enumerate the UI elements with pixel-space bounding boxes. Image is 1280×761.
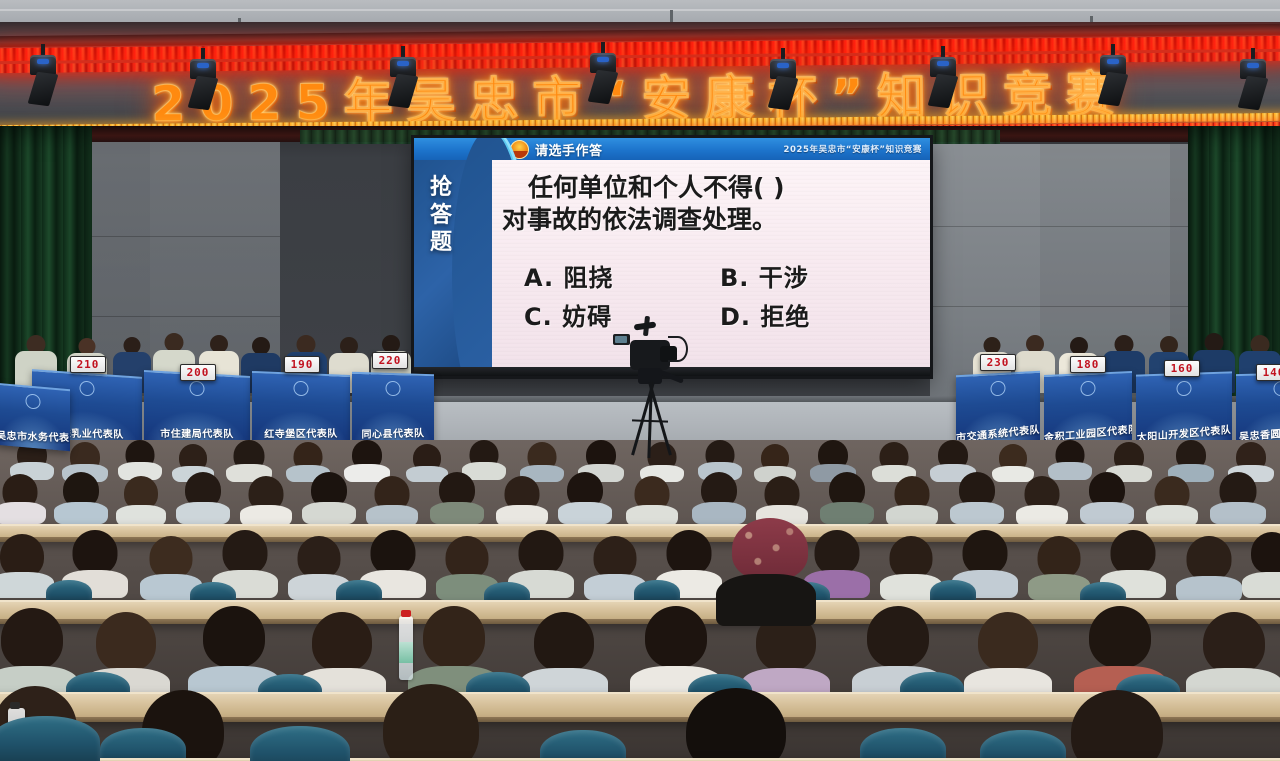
score-display: 230: [980, 354, 1016, 371]
led-banner: 2025年吴忠市“安康杯”知识竞赛: [0, 22, 1280, 130]
audience-member: [54, 472, 108, 524]
audience-member: [886, 476, 938, 526]
team-desk: 市交通系统代表队: [956, 371, 1040, 447]
audience-member: [558, 472, 612, 524]
auditorium-seat[interactable]: [0, 716, 100, 761]
bottle-label: [399, 642, 413, 664]
audience-member: [336, 684, 526, 761]
question-type-label: 抢答题: [428, 174, 454, 257]
audience-member: [366, 476, 418, 526]
audience-member: [1210, 472, 1266, 524]
audience-member: [950, 472, 1004, 524]
team-desk: 太阳山开发区代表队: [1136, 371, 1232, 446]
question-line-2: 对事故的依法调查处理。: [502, 204, 916, 236]
water-bottle: [399, 616, 413, 680]
patterned-cap: [732, 518, 808, 580]
audience-member: [118, 440, 162, 480]
score-display: 160: [1164, 360, 1200, 377]
audience-member: [0, 474, 46, 524]
audience-member: [496, 476, 548, 526]
score-display: 190: [284, 356, 320, 373]
option-d[interactable]: D. 拒绝: [720, 297, 916, 332]
audience-member: [1080, 472, 1134, 524]
team-name-label: 红寺堡区代表队: [252, 424, 350, 440]
answer-options: A. 阻挠 B. 干涉 C. 妨碍 D. 拒绝: [502, 258, 916, 332]
team-desk: 金积工业园区代表队: [1044, 371, 1132, 447]
audience-member: [240, 476, 292, 526]
audience-member: [176, 472, 230, 524]
question-line-1: 任何单位和个人不得( ): [502, 172, 916, 204]
screen-topbar-event-title: 2025年吴忠市“安康杯”知识竞赛: [783, 143, 922, 155]
audience-area: [0, 440, 1280, 761]
audience-member-with-cap: [716, 518, 816, 626]
team-desk: 红寺堡区代表队: [252, 371, 350, 447]
auditorium-seat[interactable]: [100, 728, 186, 761]
audience-member: [964, 612, 1052, 704]
audience-member: [1016, 476, 1068, 526]
audience-member: [1186, 612, 1280, 704]
bottle-cap: [10, 702, 20, 709]
score-display: 210: [70, 356, 106, 373]
team-desk: 同心县代表队: [352, 372, 434, 447]
audience-member: [692, 472, 746, 524]
score-display: 180: [1070, 356, 1106, 373]
auditorium-seat[interactable]: [860, 728, 946, 761]
audience-member: [302, 472, 356, 524]
audience-member: [1242, 532, 1280, 598]
audience-member: [1176, 536, 1242, 602]
team-desk: 吴忠市水务代表队: [0, 383, 70, 451]
option-a[interactable]: A. 阻挠: [524, 258, 720, 293]
screen-topbar-title: 请选手作答: [535, 140, 603, 159]
audience-member: [430, 472, 484, 524]
option-b[interactable]: B. 干涉: [720, 258, 916, 293]
audience-member: [626, 476, 678, 526]
score-display: 200: [180, 364, 216, 381]
team-name-label: 吴忠市水务代表队: [0, 427, 70, 445]
question-area: 任何单位和个人不得( ) 对事故的依法调查处理。 A. 阻挠 B. 干涉 C. …: [492, 160, 930, 376]
audience-member: [520, 612, 608, 704]
broadcast-camera: [610, 316, 696, 456]
bottle-cap: [401, 610, 411, 617]
camera-cable: [668, 336, 688, 362]
contestant-tables-right: 市交通系统代表队 230 金积工业园区代表队 180 太阳山开发区代表队 160…: [956, 330, 1280, 445]
team-desk: 吴忠香圆厂代表队: [1236, 372, 1280, 446]
auditorium-scene: 2025年吴忠市“安康杯”知识竞赛 请选手作答 2025年吴忠市“安康杯”知识竞…: [0, 0, 1280, 761]
audience-member: [1146, 476, 1198, 526]
auditorium-seat[interactable]: [540, 730, 626, 761]
team-desk: 市住建局代表队: [144, 370, 250, 448]
team-name-label: 同心县代表队: [352, 424, 434, 441]
team-name-label: 市住建局代表队: [144, 425, 250, 440]
audience-member: [636, 688, 836, 761]
score-display: 220: [372, 352, 408, 369]
audience-member: [820, 472, 874, 524]
auditorium-seat[interactable]: [250, 726, 350, 761]
viewfinder-screen: [615, 336, 627, 343]
score-display: 140: [1256, 364, 1280, 381]
emblem-badge-icon: [510, 140, 529, 159]
audience-member: [116, 476, 166, 526]
